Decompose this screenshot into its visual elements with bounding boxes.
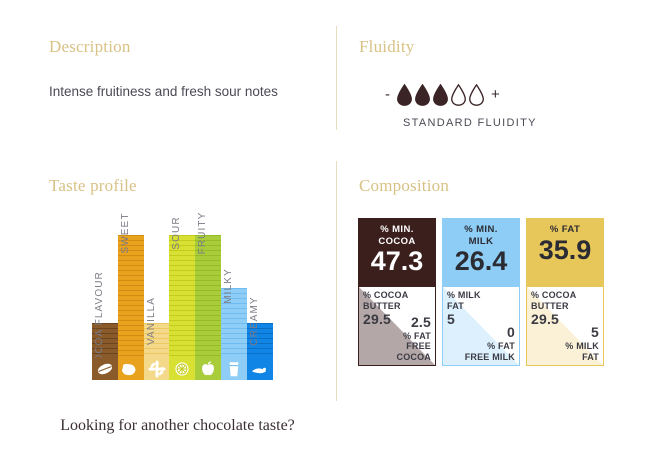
lemon-icon (169, 358, 195, 380)
taste-bar-label: FRUITY (197, 212, 208, 255)
composition-right-metric: 5% MILKFAT (565, 324, 599, 362)
composition-card-value: 26.4 (455, 248, 508, 275)
taste-bar-fill: MILKY (221, 288, 247, 358)
droplet-filled-icon (432, 84, 449, 106)
description-text: Intense fruitiness and fresh sour notes (49, 80, 299, 103)
taste-bar-fill: VANILLA (144, 323, 170, 358)
composition-card-split: % COCOABUTTER29.52.5% FATFREECOCOA (359, 287, 435, 365)
composition-card-header: % MIN.COCOA47.3 (359, 219, 435, 287)
cocoa-bean-icon (92, 358, 118, 380)
taste-bar-fill: FRUITY (195, 235, 221, 358)
taste-profile-heading: Taste profile (49, 176, 137, 196)
taste-bar-fill: COCOA FLAVOUR (92, 323, 118, 358)
composition-card-title: % MIN.MILK (464, 224, 498, 247)
chocolate-detail-page: Description Intense fruitiness and fresh… (0, 0, 651, 464)
droplet-filled-icon (414, 84, 431, 106)
composition-heading: Composition (359, 176, 449, 196)
composition-card-value: 47.3 (371, 248, 424, 275)
vertical-divider-bottom (336, 161, 337, 401)
composition-left-metric: % COCOABUTTER29.5 (531, 290, 576, 327)
taste-bar-fill: CREAMY (247, 323, 273, 358)
fluidity-drop-row: - + (380, 82, 537, 108)
taste-bar-label: MILKY (223, 268, 234, 304)
vertical-divider-top (336, 26, 337, 130)
taste-bar-fill: SWEET (118, 235, 144, 358)
plus-sign: + (486, 87, 505, 102)
taste-bar-label: SWEET (120, 212, 131, 253)
composition-cards: % MIN.COCOA47.3% COCOABUTTER29.52.5% FAT… (358, 218, 604, 366)
taste-bar-fruity: FRUITY (195, 235, 221, 380)
another-taste-question: Looking for another chocolate taste? (49, 415, 306, 437)
composition-card-split: % COCOABUTTER29.55% MILKFAT (527, 287, 603, 365)
composition-card-title: % FAT (550, 224, 580, 236)
taste-bar-sweet: SWEET (118, 235, 144, 380)
taste-bar-label: SOUR (171, 216, 182, 249)
minus-sign: - (380, 87, 395, 102)
taste-bar-cocoa-flavour: COCOA FLAVOUR (92, 323, 118, 380)
fluidity-drops (396, 84, 485, 106)
composition-card-fat: % FAT35.9% COCOABUTTER29.55% MILKFAT (526, 218, 604, 366)
milk-glass-icon (221, 358, 247, 380)
vanilla-flower-icon (144, 358, 170, 380)
composition-card-cocoa: % MIN.COCOA47.3% COCOABUTTER29.52.5% FAT… (358, 218, 436, 366)
droplet-outline-icon (450, 84, 467, 106)
composition-card-milk: % MIN.MILK26.4% MILKFAT50% FATFREE MILK (442, 218, 520, 366)
taste-bar-vanilla: VANILLA (144, 323, 170, 380)
composition-card-header: % MIN.MILK26.4 (443, 219, 519, 287)
droplet-outline-icon (468, 84, 485, 106)
fluidity-meter: - + STANDARD FLUIDITY (380, 82, 537, 129)
droplet-filled-icon (396, 84, 413, 106)
taste-bar-label: COCOA FLAVOUR (94, 271, 105, 371)
apple-icon (195, 358, 221, 380)
cream-swirl-icon (247, 358, 273, 380)
taste-bar-sour: SOUR (169, 235, 195, 380)
composition-card-value: 35.9 (539, 237, 592, 264)
taste-profile-chart: COCOA FLAVOURSWEETVANILLASOURFRUITYMILKY… (92, 218, 272, 380)
composition-card-title: % MIN.COCOA (378, 224, 415, 247)
sugar-cube-icon (118, 358, 144, 380)
composition-right-metric: 2.5% FATFREECOCOA (397, 314, 432, 363)
taste-bar-label: CREAMY (249, 296, 260, 345)
composition-left-metric: % MILKFAT5 (447, 290, 481, 327)
fluidity-heading: Fluidity (359, 37, 414, 57)
taste-bar-milky: MILKY (221, 288, 247, 380)
taste-bar-fill: SOUR (169, 235, 195, 358)
composition-right-metric: 0% FATFREE MILK (465, 324, 515, 362)
taste-bar-creamy: CREAMY (247, 323, 273, 380)
description-heading: Description (49, 37, 131, 57)
composition-card-split: % MILKFAT50% FATFREE MILK (443, 287, 519, 365)
taste-bar-label: VANILLA (146, 297, 157, 345)
fluidity-caption: STANDARD FLUIDITY (403, 117, 537, 129)
composition-card-header: % FAT35.9 (527, 219, 603, 287)
